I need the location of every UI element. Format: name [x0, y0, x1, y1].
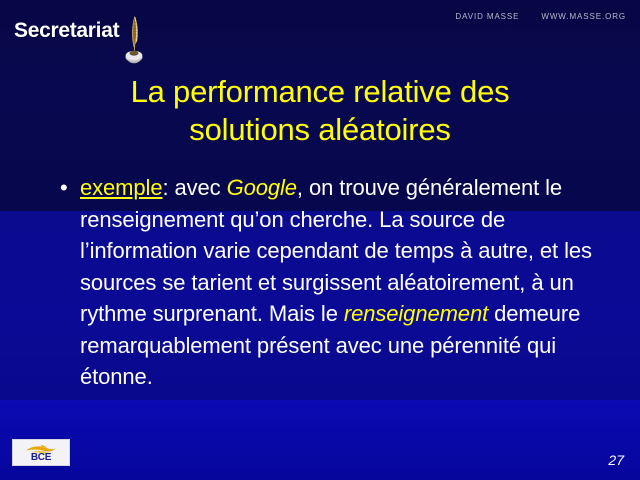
slide-title-line-2: solutions aléatoires — [189, 112, 450, 147]
emphasis-renseignement: renseignement — [344, 301, 488, 326]
presentation-slide: DAVID MASSEWWW.MASSE.ORG Secretariat — [0, 0, 640, 480]
text-after-keyword: : avec — [162, 175, 226, 200]
slide-body: • exemple: avec Google, on trouve généra… — [56, 172, 616, 393]
bce-logo: BCE — [12, 439, 70, 466]
page-number: 27 — [608, 452, 624, 468]
secretariat-logo-text: Secretariat — [14, 18, 119, 44]
bce-logo-text: BCE — [31, 452, 51, 463]
slide-title-line-1: La performance relative des — [131, 74, 510, 109]
quill-pen-inkwell-icon — [121, 14, 147, 66]
list-item-text: exemple: avec Google, on trouve générale… — [80, 172, 616, 393]
slide-title: La performance relative des solutions al… — [40, 73, 600, 149]
secretariat-logo: Secretariat — [14, 18, 147, 64]
brand-google: Google — [227, 175, 297, 200]
keyword-exemple: exemple — [80, 175, 162, 200]
bullet-point-icon: • — [56, 172, 80, 203]
author-name: DAVID MASSE — [455, 12, 519, 21]
header-attribution: DAVID MASSEWWW.MASSE.ORG — [455, 12, 626, 21]
list-item: • exemple: avec Google, on trouve généra… — [56, 172, 616, 393]
website-url: WWW.MASSE.ORG — [541, 12, 626, 21]
background-band-bottom — [0, 400, 640, 480]
